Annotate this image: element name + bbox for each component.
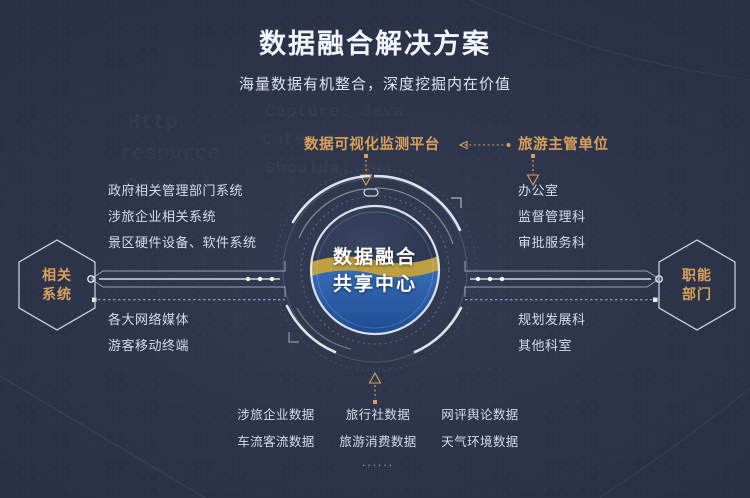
hexagon-left-line2: 系统: [42, 285, 72, 304]
bottom-data-source-grid: 涉旅企业数据 旅行社数据 网评舆论数据 车流客流数据 旅游消费数据 天气环境数据: [228, 404, 528, 450]
dotted-arrow-connector: [450, 139, 516, 151]
left-top-system-list: 政府相关管理部门系统 涉旅企业相关系统 景区硬件设备、软件系统: [108, 178, 257, 256]
list-item[interactable]: 其他科室: [518, 333, 586, 359]
rail-left-lower: [92, 296, 287, 304]
list-item[interactable]: 审批服务科: [518, 230, 586, 256]
data-item[interactable]: 车流客流数据: [228, 431, 324, 450]
right-bottom-department-list: 规划发展科 其他科室: [518, 307, 586, 359]
right-top-department-list: 办公室 监督管理科 审批服务科: [518, 178, 586, 256]
list-item[interactable]: 景区硬件设备、软件系统: [108, 230, 257, 256]
hexagon-functional-departments[interactable]: 职能 部门: [654, 237, 740, 333]
hexagon-right-line1: 职能: [682, 266, 712, 285]
hexagon-left-line1: 相关: [42, 266, 72, 285]
data-item[interactable]: 旅游消费数据: [330, 431, 426, 450]
hexagon-right-line2: 部门: [682, 285, 712, 304]
watermark-text: Http: [128, 112, 178, 135]
hexagon-related-systems[interactable]: 相关 系统: [14, 237, 100, 333]
left-bottom-system-list: 各大网络媒体 游客移动终端: [108, 307, 189, 359]
hexagon-left-label: 相关 系统: [14, 237, 100, 333]
list-item[interactable]: 办公室: [518, 178, 586, 204]
list-item[interactable]: 涉旅企业相关系统: [108, 204, 257, 230]
rail-right-lower: [463, 296, 658, 304]
data-item[interactable]: 天气环境数据: [432, 431, 528, 450]
hexagon-right-label: 职能 部门: [654, 237, 740, 333]
label-visualization-platform[interactable]: 数据可视化监测平台: [304, 133, 440, 154]
central-hub[interactable]: 数据融合 共享中心: [265, 158, 485, 383]
label-tourism-authority[interactable]: 旅游主管单位: [518, 133, 609, 154]
list-item[interactable]: 游客移动终端: [108, 333, 189, 359]
central-hub-graphic: [265, 158, 485, 383]
page-title: 数据融合解决方案: [0, 22, 750, 61]
page-subtitle: 海量数据有机整合，深度挖掘内在价值: [0, 73, 750, 94]
list-item[interactable]: 监督管理科: [518, 204, 586, 230]
bottom-ellipsis: ......: [228, 455, 528, 469]
data-item[interactable]: 涉旅企业数据: [228, 404, 324, 423]
watermark-text: Capture: Java: [265, 103, 404, 122]
header-block: 数据融合解决方案 海量数据有机整合，深度挖掘内在价值: [0, 22, 750, 94]
data-item[interactable]: 旅行社数据: [330, 404, 426, 423]
list-item[interactable]: 规划发展科: [518, 307, 586, 333]
list-item[interactable]: 政府相关管理部门系统: [108, 178, 257, 204]
list-item[interactable]: 各大网络媒体: [108, 307, 189, 333]
data-item[interactable]: 网评舆论数据: [432, 404, 528, 423]
infographic-canvas: Capture: Java Category: defi Shoulda: No…: [0, 0, 750, 498]
watermark-text: resource: [120, 143, 220, 166]
